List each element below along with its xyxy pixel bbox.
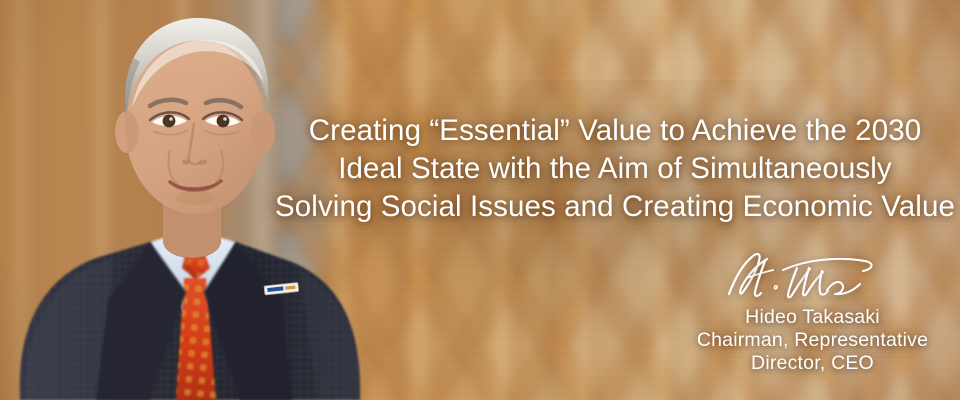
headline-line-2: Ideal State with the Aim of Simultaneous… <box>270 150 960 188</box>
headline-line-1: Creating “Essential” Value to Achieve th… <box>270 112 960 150</box>
face <box>115 18 275 214</box>
signatory-name: Hideo Takasaki <box>665 306 960 329</box>
signature-block: Hideo Takasaki Chairman, Representative … <box>665 248 960 375</box>
handwritten-signature-icon <box>713 248 913 302</box>
chairman-message-hero: Creating “Essential” Value to Achieve th… <box>0 0 960 400</box>
hero-headline: Creating “Essential” Value to Achieve th… <box>270 112 960 226</box>
headline-line-3: Solving Social Issues and Creating Econo… <box>270 188 960 226</box>
signatory-title-line-2: Director, CEO <box>665 352 960 375</box>
signatory-title-line-1: Chairman, Representative <box>665 329 960 352</box>
